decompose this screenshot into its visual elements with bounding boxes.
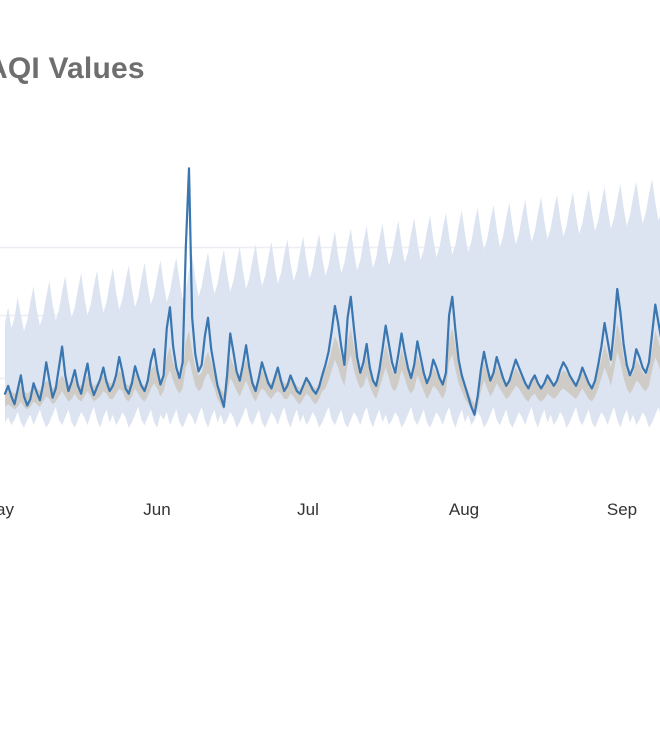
aqi-chart-card: AQI Values ayJunJulAugSep: [0, 0, 660, 742]
chart-plot-area: [0, 120, 660, 482]
x-tick-label: Jun: [143, 500, 170, 520]
x-tick-label: Aug: [449, 500, 479, 520]
x-tick-label: Sep: [607, 500, 637, 520]
page-title: AQI Values: [0, 52, 145, 86]
aqi-line-chart-svg: [0, 120, 660, 482]
x-tick-label: Jul: [297, 500, 319, 520]
x-tick-label: ay: [0, 500, 14, 520]
x-axis: ayJunJulAugSep: [0, 482, 660, 522]
